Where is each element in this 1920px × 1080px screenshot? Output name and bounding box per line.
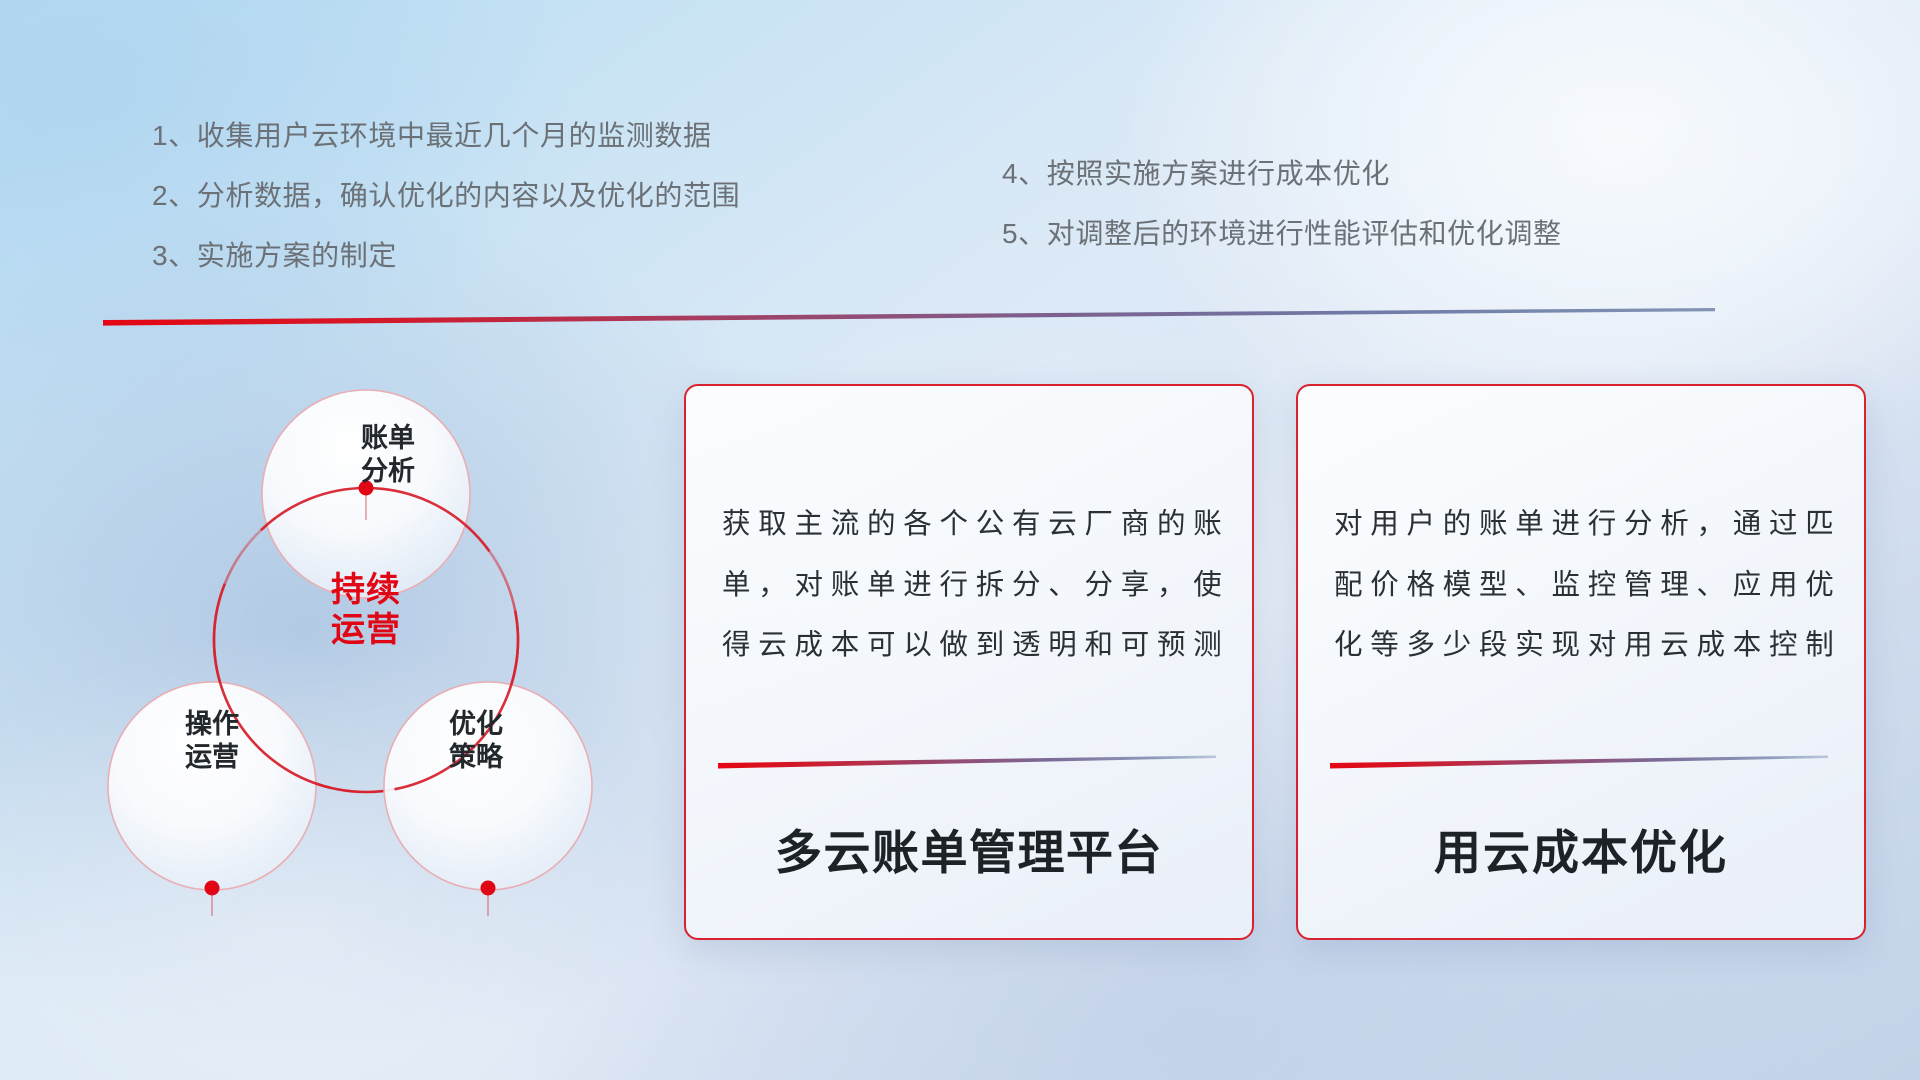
card-2-body-line-1: 对用户的账单进行分析，通过匹: [1334, 494, 1834, 554]
step-text-4: 按照实施方案进行成本优化: [1047, 158, 1390, 189]
card-2-body-line-3: 化等多少段实现对用云成本控制: [1334, 615, 1834, 675]
step-text-3: 实施方案的制定: [197, 240, 397, 271]
slide-canvas: 1、收集用户云环境中最近几个月的监测数据 2、分析数据，确认优化的内容以及优化的…: [0, 0, 1920, 1080]
step-item-5: 5、对调整后的环境进行性能评估和优化调整: [1002, 220, 1562, 248]
venn-circle-right[interactable]: [384, 682, 592, 890]
venn-circles: [96, 348, 636, 936]
step-index-1: 1、: [152, 120, 197, 151]
venn-node-dot-left: [205, 881, 220, 896]
card-1-body-line-3: 得云成本可以做到透明和可预测: [722, 615, 1222, 675]
step-text-1: 收集用户云环境中最近几个月的监测数据: [197, 120, 712, 151]
step-index-5: 5、: [1002, 218, 1047, 249]
card-1-body-line-1: 获取主流的各个公有云厂商的账: [722, 494, 1222, 554]
venn-circle-left[interactable]: [108, 682, 316, 890]
step-text-2: 分析数据，确认优化的内容以及优化的范围: [197, 180, 740, 211]
venn-node-dot-top: [359, 481, 374, 496]
steps-list-left: 1、收集用户云环境中最近几个月的监测数据 2、分析数据，确认优化的内容以及优化的…: [152, 122, 740, 270]
continuous-operation-diagram: 账单 分析 操作 运营 优化 策略 持续 运营: [96, 348, 636, 936]
step-index-3: 3、: [152, 240, 197, 271]
card-2-title: 用云成本优化: [1298, 814, 1864, 883]
card-cloud-cost-optimization[interactable]: 对用户的账单进行分析，通过匹 配价格模型、监控管理、应用优 化等多少段实现对用云…: [1296, 384, 1866, 940]
step-item-3: 3、实施方案的制定: [152, 242, 740, 270]
section-divider: [103, 306, 1715, 326]
card-1-title: 多云账单管理平台: [686, 814, 1252, 883]
step-text-5: 对调整后的环境进行性能评估和优化调整: [1047, 218, 1562, 249]
step-item-4: 4、按照实施方案进行成本优化: [1002, 160, 1562, 188]
steps-list-right: 4、按照实施方案进行成本优化 5、对调整后的环境进行性能评估和优化调整: [1002, 160, 1562, 248]
step-item-2: 2、分析数据，确认优化的内容以及优化的范围: [152, 182, 740, 210]
card-2-divider: [1330, 754, 1828, 770]
step-index-2: 2、: [152, 180, 197, 211]
card-2-body: 对用户的账单进行分析，通过匹 配价格模型、监控管理、应用优 化等多少段实现对用云…: [1334, 444, 1834, 726]
venn-node-dot-right: [481, 881, 496, 896]
step-index-4: 4、: [1002, 158, 1047, 189]
step-item-1: 1、收集用户云环境中最近几个月的监测数据: [152, 122, 740, 150]
card-1-divider: [718, 754, 1216, 770]
card-2-body-line-2: 配价格模型、监控管理、应用优: [1334, 555, 1834, 615]
card-1-body-line-2: 单，对账单进行拆分、分享，使: [722, 555, 1222, 615]
card-multi-cloud-bill-platform[interactable]: 获取主流的各个公有云厂商的账 单，对账单进行拆分、分享，使 得云成本可以做到透明…: [684, 384, 1254, 940]
card-1-body: 获取主流的各个公有云厂商的账 单，对账单进行拆分、分享，使 得云成本可以做到透明…: [722, 444, 1222, 726]
